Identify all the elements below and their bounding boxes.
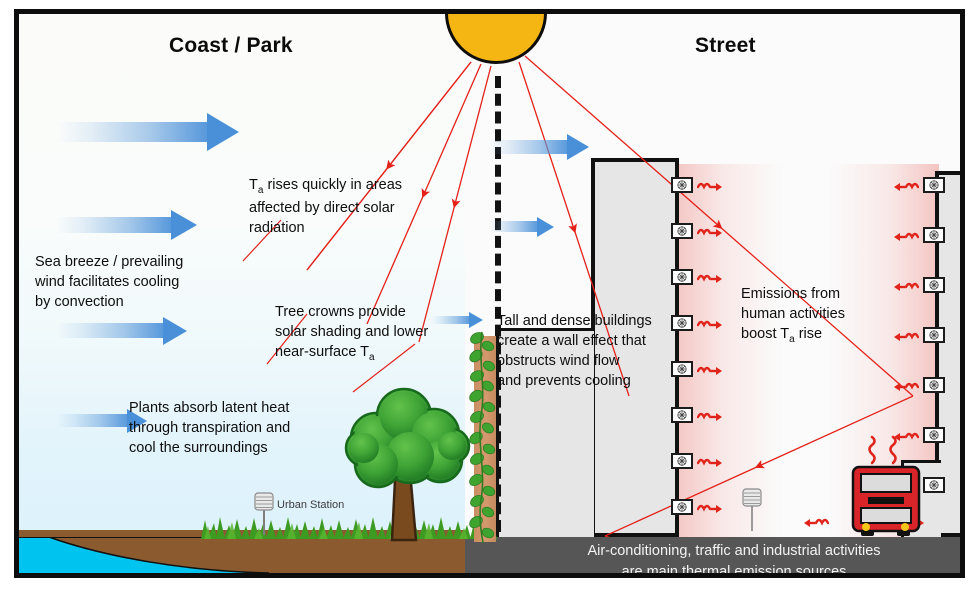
panel-heading-coast: Coast / Park	[169, 34, 293, 58]
sea-water	[19, 537, 269, 573]
ac-unit-icon	[923, 377, 945, 393]
heat-wave-icon	[697, 500, 723, 514]
ac-unit-icon	[923, 177, 945, 193]
callout-solar-line1-post: rises quickly in areas	[263, 177, 402, 193]
heat-wave-icon	[893, 178, 919, 192]
urban-station-icon	[251, 491, 277, 535]
heat-wave-icon	[803, 514, 829, 528]
callout-tree-line1: Tree crowns provide	[275, 302, 475, 322]
heat-wave-icon	[697, 408, 723, 422]
callout-tree-line2: solar shading and lower	[275, 322, 475, 342]
callout-emission-line3-pre: boost T	[741, 326, 789, 342]
ac-unit-icon	[923, 327, 945, 343]
callout-plants-line3: cool the surroundings	[129, 438, 344, 458]
wind-arrow-street-1	[489, 140, 607, 154]
panel-heading-street: Street	[695, 34, 756, 58]
heat-wave-icon	[893, 378, 919, 392]
ac-unit-icon	[671, 499, 693, 515]
callout-tree-crowns: Tree crowns provide solar shading and lo…	[275, 302, 475, 365]
callout-solar-line1-pre: T	[249, 177, 258, 193]
road-caption-line1: Air-conditioning, traffic and industrial…	[519, 541, 949, 562]
wind-arrow-coast-3	[57, 323, 217, 338]
ac-unit-icon	[923, 277, 945, 293]
ac-unit-icon	[671, 223, 693, 239]
wind-arrow-street-2	[489, 221, 567, 232]
callout-breeze-line2: wind facilitates cooling	[35, 272, 245, 292]
ac-unit-icon	[671, 453, 693, 469]
diagram-canvas: Urban Station Coast / Park	[0, 0, 979, 594]
callout-breeze-line3: by convection	[35, 292, 245, 312]
ac-unit-icon	[923, 427, 945, 443]
tree-icon	[334, 382, 474, 547]
heat-wave-icon	[697, 178, 723, 192]
callout-solar-line2: affected by direct solar	[249, 198, 469, 218]
callout-solar-radiation: Ta rises quickly in areas affected by di…	[249, 175, 469, 238]
urban-station-icon	[739, 487, 765, 531]
heat-wave-icon	[697, 316, 723, 330]
subscript-a: a	[369, 352, 375, 363]
bus-icon	[847, 429, 925, 541]
heat-wave-icon	[893, 228, 919, 242]
callout-wall-line3: obstructs wind flow	[497, 351, 693, 371]
callout-plants-latent-heat: Plants absorb latent heat through transp…	[129, 398, 344, 458]
ac-unit-icon	[923, 227, 945, 243]
callout-wall-line1: Tall and dense buildings	[497, 311, 693, 331]
heat-wave-icon	[697, 224, 723, 238]
heat-wave-icon	[697, 362, 723, 376]
callout-human-emissions: Emissions from human activities boost Ta…	[741, 284, 921, 347]
diagram-frame: Urban Station Coast / Park	[14, 9, 965, 578]
urban-station-label: Urban Station	[277, 499, 344, 511]
callout-breeze-line1: Sea breeze / prevailing	[35, 252, 245, 272]
wind-arrow-coast-2	[57, 217, 227, 233]
ac-unit-icon	[671, 177, 693, 193]
ac-unit-icon	[923, 477, 945, 493]
callout-wall-line2: create a wall effect that	[497, 331, 693, 351]
callout-emission-line1: Emissions from	[741, 284, 921, 304]
callout-tree-line3-pre: near-surface T	[275, 344, 369, 360]
callout-plants-line2: through transpiration and	[129, 418, 344, 438]
ac-unit-icon	[671, 269, 693, 285]
heat-wave-icon	[697, 270, 723, 284]
callout-wall-line4: and prevents cooling	[497, 371, 693, 391]
callout-solar-line3: radiation	[249, 218, 469, 238]
heat-wave-icon	[697, 454, 723, 468]
callout-plants-line1: Plants absorb latent heat	[129, 398, 344, 418]
callout-emission-line3-post: rise	[795, 326, 822, 342]
callout-emission-line2: human activities	[741, 304, 921, 324]
wind-arrow-coast-1	[57, 122, 267, 142]
road-caption-line2: are main thermal emission sources	[519, 562, 949, 578]
callout-wall-effect: Tall and dense buildings create a wall e…	[497, 311, 693, 391]
road-caption: Air-conditioning, traffic and industrial…	[519, 541, 949, 578]
callout-sea-breeze: Sea breeze / prevailing wind facilitates…	[35, 252, 245, 312]
ac-unit-icon	[671, 407, 693, 423]
